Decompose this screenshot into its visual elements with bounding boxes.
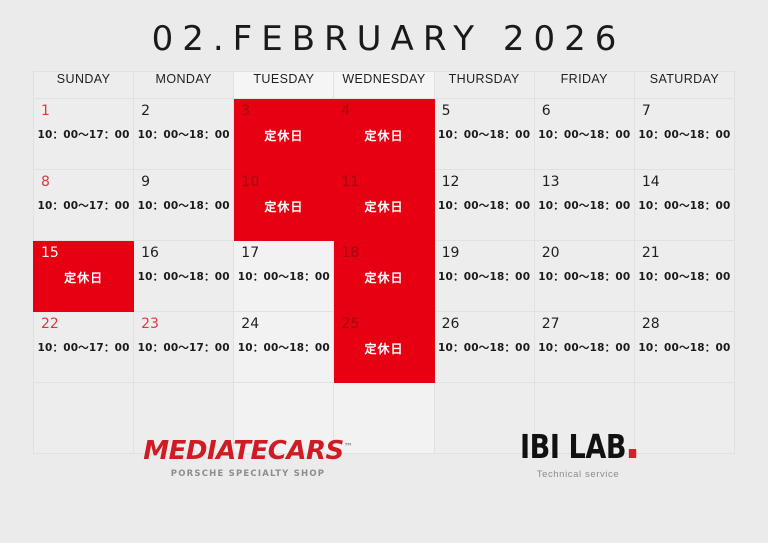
weekday-header-thursday: THURSDAY [434,72,534,99]
day-number: 1 [41,104,50,118]
calendar-week-row: 810：00〜17：00910：00〜18：0010定休日11定休日1210：0… [34,170,735,241]
day-number: 12 [442,175,460,189]
calendar-cell-empty [234,383,334,454]
closed-label: 定休日 [334,127,433,144]
calendar-cell-empty [134,383,234,454]
calendar-day-cell[interactable]: 2110：00〜18：00 [634,241,734,312]
mediatecars-tagline: PORSCHE SPECIALTY SHOP [133,469,363,479]
business-hours: 10：00〜18：00 [435,269,534,284]
day-number: 13 [542,175,560,189]
closed-label: 定休日 [234,198,333,215]
day-number: 7 [642,104,651,118]
day-number: 17 [241,246,259,260]
day-number: 11 [341,175,359,189]
weekday-header-tuesday: TUESDAY [234,72,334,99]
business-hours: 10：00〜17：00 [34,127,133,142]
business-hours: 10：00〜18：00 [435,340,534,355]
day-number: 6 [542,104,551,118]
business-hours: 10：00〜18：00 [134,127,233,142]
business-hours: 10：00〜18：00 [635,269,734,284]
calendar-day-cell[interactable]: 4定休日 [334,99,434,170]
calendar-day-cell[interactable]: 110：00〜17：00 [34,99,134,170]
calendar-cell-empty [434,383,534,454]
ibilab-tagline: Technical service [473,469,683,480]
day-number: 26 [442,317,460,331]
calendar-cell-empty [334,383,434,454]
calendar-day-cell[interactable]: 610：00〜18：00 [534,99,634,170]
business-hours: 10：00〜18：00 [234,340,333,355]
calendar-day-cell[interactable]: 2610：00〜18：00 [434,312,534,383]
day-number: 23 [141,317,159,331]
calendar-day-cell[interactable]: 2010：00〜18：00 [534,241,634,312]
closed-label: 定休日 [34,269,133,286]
day-number: 2 [141,104,150,118]
calendar-day-cell[interactable]: 1610：00〜18：00 [134,241,234,312]
calendar-cell-empty [534,383,634,454]
calendar-day-cell[interactable]: 2210：00〜17：00 [34,312,134,383]
calendar-cell-empty [634,383,734,454]
day-number: 24 [241,317,259,331]
day-number: 3 [241,104,250,118]
day-number: 8 [41,175,50,189]
business-hours: 10：00〜17：00 [34,340,133,355]
weekday-header-saturday: SATURDAY [634,72,734,99]
weekday-header-friday: FRIDAY [534,72,634,99]
business-hours: 10：00〜18：00 [635,198,734,213]
calendar-day-cell[interactable]: 25定休日 [334,312,434,383]
weekday-header-row: SUNDAY MONDAY TUESDAY WEDNESDAY THURSDAY… [34,72,735,99]
calendar-day-cell[interactable]: 1210：00〜18：00 [434,170,534,241]
weekday-header-sunday: SUNDAY [34,72,134,99]
business-hours: 10：00〜18：00 [635,340,734,355]
calendar-day-cell[interactable]: 1910：00〜18：00 [434,241,534,312]
day-number: 22 [41,317,59,331]
weekday-header-wednesday: WEDNESDAY [334,72,434,99]
day-number: 20 [542,246,560,260]
business-hours: 10：00〜18：00 [535,340,634,355]
calendar-page: 02.FEBRUARY 2026 SUNDAY MONDAY TUESDAY W… [0,0,768,543]
calendar-day-cell[interactable]: 510：00〜18：00 [434,99,534,170]
business-hours: 10：00〜18：00 [234,269,333,284]
day-number: 9 [141,175,150,189]
day-number: 14 [642,175,660,189]
calendar-day-cell[interactable]: 15定休日 [34,241,134,312]
day-number: 25 [341,317,359,331]
calendar-day-cell[interactable]: 810：00〜17：00 [34,170,134,241]
day-number: 27 [542,317,560,331]
calendar-day-cell[interactable]: 2310：00〜17：00 [134,312,234,383]
day-number: 15 [41,246,59,260]
calendar-body: 110：00〜17：00210：00〜18：003定休日4定休日510：00〜1… [34,99,735,454]
weekday-header-monday: MONDAY [134,72,234,99]
business-hours: 10：00〜18：00 [134,269,233,284]
closed-label: 定休日 [334,340,433,357]
calendar-day-cell[interactable]: 910：00〜18：00 [134,170,234,241]
business-hours: 10：00〜18：00 [134,198,233,213]
business-hours: 10：00〜18：00 [535,127,634,142]
calendar-grid: SUNDAY MONDAY TUESDAY WEDNESDAY THURSDAY… [33,71,735,454]
day-number: 10 [241,175,259,189]
calendar-day-cell[interactable]: 3定休日 [234,99,334,170]
business-hours: 10：00〜18：00 [435,198,534,213]
calendar-day-cell[interactable]: 710：00〜18：00 [634,99,734,170]
day-number: 18 [341,246,359,260]
calendar-day-cell[interactable]: 1410：00〜18：00 [634,170,734,241]
calendar-day-cell[interactable]: 1310：00〜18：00 [534,170,634,241]
closed-label: 定休日 [334,269,433,286]
business-hours: 10：00〜18：00 [635,127,734,142]
calendar-day-cell[interactable]: 1710：00〜18：00 [234,241,334,312]
calendar-day-cell[interactable]: 11定休日 [334,170,434,241]
day-number: 21 [642,246,660,260]
page-title: 02.FEBRUARY 2026 [0,0,768,56]
calendar-week-row: 15定休日1610：00〜18：001710：00〜18：0018定休日1910… [34,241,735,312]
day-number: 28 [642,317,660,331]
calendar-day-cell[interactable]: 2410：00〜18：00 [234,312,334,383]
business-hours: 10：00〜17：00 [134,340,233,355]
closed-label: 定休日 [334,198,433,215]
calendar-cell-empty [34,383,134,454]
business-hours: 10：00〜18：00 [435,127,534,142]
day-number: 4 [341,104,350,118]
closed-label: 定休日 [234,127,333,144]
day-number: 16 [141,246,159,260]
day-number: 19 [442,246,460,260]
calendar-day-cell[interactable]: 210：00〜18：00 [134,99,234,170]
calendar-day-cell[interactable]: 2810：00〜18：00 [634,312,734,383]
calendar-week-row: 2210：00〜17：002310：00〜17：002410：00〜18：002… [34,312,735,383]
business-hours: 10：00〜18：00 [535,269,634,284]
business-hours: 10：00〜18：00 [535,198,634,213]
calendar-day-cell[interactable]: 18定休日 [334,241,434,312]
calendar-week-row [34,383,735,454]
day-number: 5 [442,104,451,118]
calendar-week-row: 110：00〜17：00210：00〜18：003定休日4定休日510：00〜1… [34,99,735,170]
business-hours: 10：00〜17：00 [34,198,133,213]
calendar-day-cell[interactable]: 10定休日 [234,170,334,241]
calendar-day-cell[interactable]: 2710：00〜18：00 [534,312,634,383]
